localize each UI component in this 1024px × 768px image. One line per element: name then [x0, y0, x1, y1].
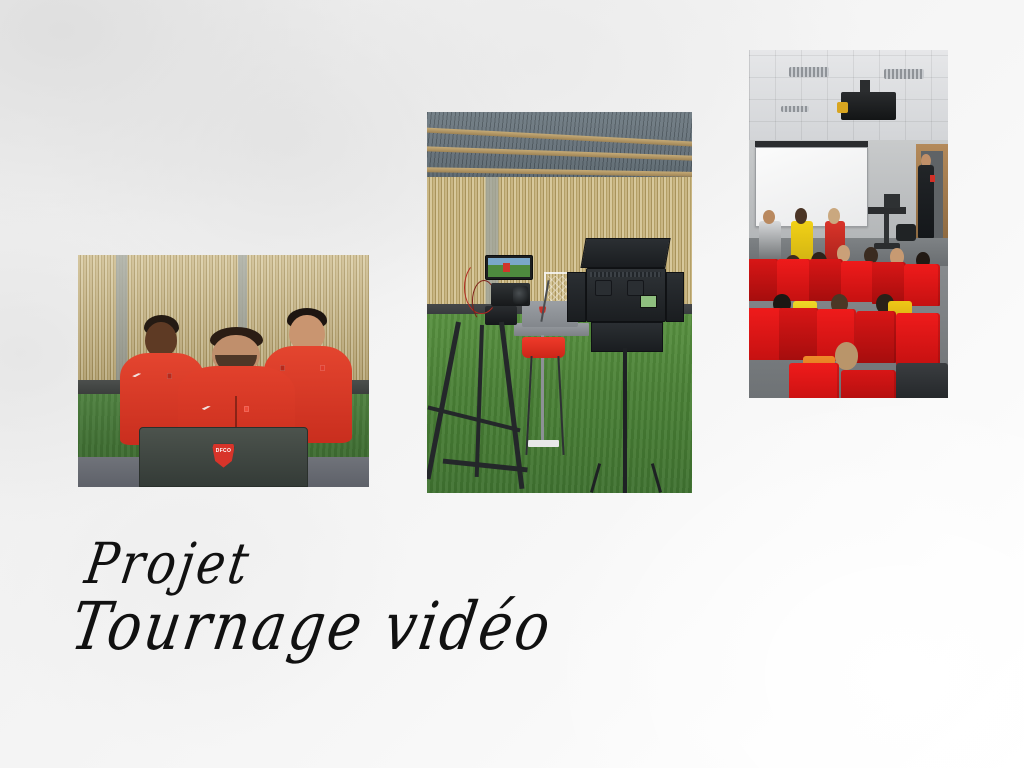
photo-video-shoot-setup[interactable] — [427, 112, 692, 493]
ceiling-vent — [884, 69, 924, 79]
photo-auditorium-presentation[interactable] — [749, 50, 948, 398]
jersey-swoosh-icon — [132, 373, 141, 377]
auditorium-seat — [789, 363, 839, 398]
club-crest — [244, 406, 249, 412]
camera-cable — [472, 280, 496, 322]
ceiling-vent — [789, 67, 829, 77]
high-table-foot — [528, 440, 560, 447]
title-line-tournage-video: Tournage vidéo — [67, 595, 717, 661]
club-crest — [320, 365, 325, 371]
dfco-crest-icon: DFCO — [212, 444, 234, 468]
auditorium-seat — [749, 259, 779, 301]
slide-canvas: DFCO — [0, 0, 1024, 768]
attendee-foreground — [896, 363, 948, 398]
attendee-head — [763, 210, 775, 224]
auditorium-seat — [856, 311, 896, 363]
led-barndoor-top — [581, 238, 671, 268]
ceiling-vent — [781, 106, 809, 112]
light-stand-column — [623, 348, 627, 493]
attendee-head — [828, 208, 840, 224]
projector-lens — [837, 102, 849, 112]
attendee-front — [759, 221, 781, 263]
ceiling-projector — [841, 92, 897, 120]
led-panel-light — [586, 268, 666, 321]
led-control-display[interactable] — [640, 295, 657, 308]
led-battery-slot — [595, 280, 612, 295]
equipment-bag — [896, 224, 916, 241]
led-battery-slot — [627, 280, 644, 295]
led-barndoor-left — [567, 272, 586, 322]
presenter-logo — [930, 175, 935, 182]
presenter-laptop — [884, 194, 900, 208]
player-left-head — [145, 322, 177, 357]
presenter-table-leg — [884, 214, 889, 245]
projection-screen-casing — [755, 141, 868, 147]
jacket-swoosh-icon — [202, 406, 211, 410]
photo-three-players-with-laptop[interactable]: DFCO — [78, 255, 369, 487]
photo-3-scene — [749, 50, 948, 398]
camera-lens — [513, 286, 528, 303]
attendee-head — [795, 208, 807, 224]
jersey-badge — [167, 373, 172, 379]
dfco-crest-label: DFCO — [216, 448, 231, 454]
led-barndoor-right — [666, 272, 685, 322]
auditorium-seat — [904, 264, 940, 306]
slide-title: Projet Tournage vidéo — [72, 540, 712, 656]
photo-2-scene — [427, 112, 692, 493]
auditorium-seat — [779, 308, 819, 360]
auditorium-seat — [841, 370, 897, 398]
photo-1-scene: DFCO — [78, 255, 369, 487]
title-line-projet: Projet — [82, 536, 717, 593]
laptop-lid: DFCO — [139, 427, 308, 487]
auditorium-seat — [749, 308, 783, 360]
red-stool-seat — [522, 337, 564, 358]
auditorium-seat — [896, 313, 940, 365]
